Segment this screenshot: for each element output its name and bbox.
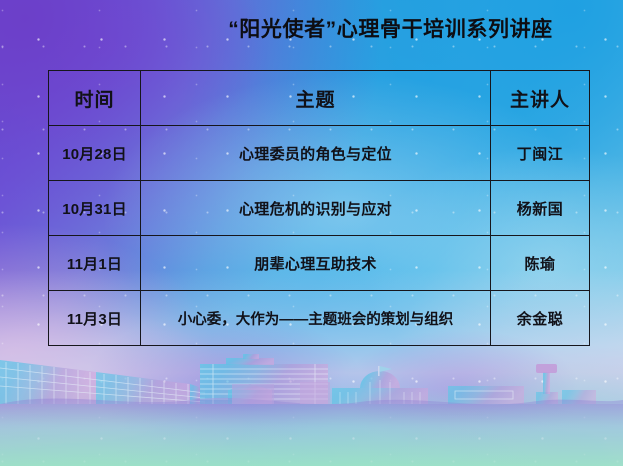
- poster-canvas: “阳光使者”心理骨干培训系列讲座 时间 主题 主讲人 10月28日 心理委员的角…: [0, 0, 623, 466]
- cell-speaker: 陈瑜: [491, 236, 590, 291]
- poster-title: “阳光使者”心理骨干培训系列讲座: [0, 13, 623, 43]
- cell-speaker: 余金聪: [491, 291, 590, 346]
- table-row: 10月28日 心理委员的角色与定位 丁闽江: [49, 126, 590, 181]
- schedule-table: 时间 主题 主讲人 10月28日 心理委员的角色与定位 丁闽江 10月31日 心…: [48, 70, 590, 346]
- header-speaker: 主讲人: [491, 71, 590, 126]
- cell-time: 10月31日: [49, 181, 141, 236]
- cell-speaker: 杨新国: [491, 181, 590, 236]
- header-topic: 主题: [141, 71, 491, 126]
- table-row: 11月3日 小心委，大作为——主题班会的策划与组织 余金聪: [49, 291, 590, 346]
- cell-topic: 朋辈心理互助技术: [141, 236, 491, 291]
- building-domed-hall: [332, 366, 428, 404]
- cell-topic: 心理委员的角色与定位: [141, 126, 491, 181]
- cell-time: 11月1日: [49, 236, 141, 291]
- cell-time: 10月28日: [49, 126, 141, 181]
- poster-title-text: “阳光使者”心理骨干培训系列讲座: [228, 13, 553, 43]
- building-main-grid-tower: [200, 354, 328, 404]
- skyline-illustration: [0, 346, 623, 466]
- table-header-row: 时间 主题 主讲人: [49, 71, 590, 126]
- header-time: 时间: [49, 71, 141, 126]
- cell-time: 11月3日: [49, 291, 141, 346]
- cell-speaker: 丁闽江: [491, 126, 590, 181]
- table-row: 11月1日 朋辈心理互助技术 陈瑜: [49, 236, 590, 291]
- cell-topic: 小心委，大作为——主题班会的策划与组织: [141, 291, 491, 346]
- building-low-block-and-water-tower: [448, 364, 596, 404]
- table-row: 10月31日 心理危机的识别与应对 杨新国: [49, 181, 590, 236]
- cell-topic: 心理危机的识别与应对: [141, 181, 491, 236]
- building-long-colonnade: [0, 360, 205, 404]
